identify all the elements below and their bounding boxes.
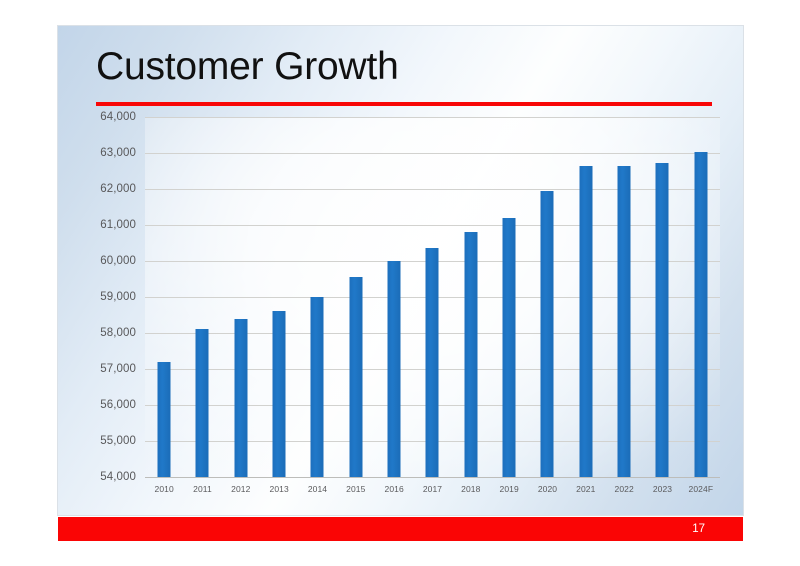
slide-canvas: Customer Growth 64,00063,00062,00061,000…: [58, 26, 743, 515]
footer-bar: 17: [58, 517, 743, 541]
bar-slot: 2017: [413, 117, 451, 477]
x-axis-tick-label: 2018: [461, 484, 480, 494]
title-block: Customer Growth: [96, 42, 716, 110]
y-axis-tick-label: 61,000: [100, 219, 136, 231]
x-axis-tick-label: 2011: [193, 484, 212, 494]
bar[interactable]: [273, 311, 286, 477]
x-axis-tick-label: 2020: [538, 484, 557, 494]
bar-slot: 2021: [567, 117, 605, 477]
x-axis-tick-label: 2013: [270, 484, 289, 494]
bar[interactable]: [311, 297, 324, 477]
x-axis-tick-label: 2015: [346, 484, 365, 494]
y-axis-tick-label: 62,000: [100, 183, 136, 195]
y-axis-tick-label: 63,000: [100, 147, 136, 159]
bar[interactable]: [503, 218, 516, 477]
bar-slot: 2013: [260, 117, 298, 477]
x-axis-tick-label: 2022: [615, 484, 634, 494]
bar-slot: 2015: [337, 117, 375, 477]
bar[interactable]: [541, 191, 554, 477]
bar-slot: 2016: [375, 117, 413, 477]
x-axis-tick-label: 2023: [653, 484, 672, 494]
bar[interactable]: [464, 232, 477, 477]
y-axis-tick-label: 57,000: [100, 363, 136, 375]
bar[interactable]: [196, 329, 209, 477]
x-axis-tick-label: 2024F: [689, 484, 714, 494]
bar-slot: 2011: [183, 117, 221, 477]
x-axis-tick-label: 2017: [423, 484, 442, 494]
plot-area: 64,00063,00062,00061,00060,00059,00058,0…: [145, 117, 720, 477]
bar-slot: 2020: [528, 117, 566, 477]
x-axis-tick-label: 2021: [576, 484, 595, 494]
bar[interactable]: [656, 163, 669, 477]
x-axis-tick-label: 2014: [308, 484, 327, 494]
bar[interactable]: [618, 166, 631, 477]
y-axis-tick-label: 54,000: [100, 471, 136, 483]
bar-slot: 2010: [145, 117, 183, 477]
page-title: Customer Growth: [96, 42, 716, 92]
bar-slot: 2018: [452, 117, 490, 477]
bars-group: 2010201120122013201420152016201720182019…: [145, 117, 720, 477]
bar[interactable]: [426, 248, 439, 477]
bar-slot: 2014: [298, 117, 336, 477]
y-axis-tick-label: 55,000: [100, 435, 136, 447]
bar-slot: 2019: [490, 117, 528, 477]
bar[interactable]: [234, 319, 247, 477]
y-axis-tick-label: 59,000: [100, 291, 136, 303]
gridline: [145, 477, 720, 478]
bar[interactable]: [388, 261, 401, 477]
x-axis-tick-label: 2012: [231, 484, 250, 494]
x-axis-tick-label: 2010: [155, 484, 174, 494]
customer-growth-bar-chart: 64,00063,00062,00061,00060,00059,00058,0…: [88, 104, 728, 494]
bar-slot: 2022: [605, 117, 643, 477]
x-axis-tick-label: 2019: [500, 484, 519, 494]
y-axis-tick-label: 60,000: [100, 255, 136, 267]
x-axis-tick-label: 2016: [385, 484, 404, 494]
y-axis-tick-label: 56,000: [100, 399, 136, 411]
bar-slot: 2024F: [682, 117, 720, 477]
bar[interactable]: [579, 166, 592, 477]
bar-slot: 2012: [222, 117, 260, 477]
page-number: 17: [692, 523, 705, 535]
bar[interactable]: [349, 277, 362, 477]
y-axis-tick-label: 64,000: [100, 111, 136, 123]
bar[interactable]: [158, 362, 171, 477]
bar[interactable]: [694, 152, 707, 477]
bar-slot: 2023: [643, 117, 681, 477]
y-axis-tick-label: 58,000: [100, 327, 136, 339]
